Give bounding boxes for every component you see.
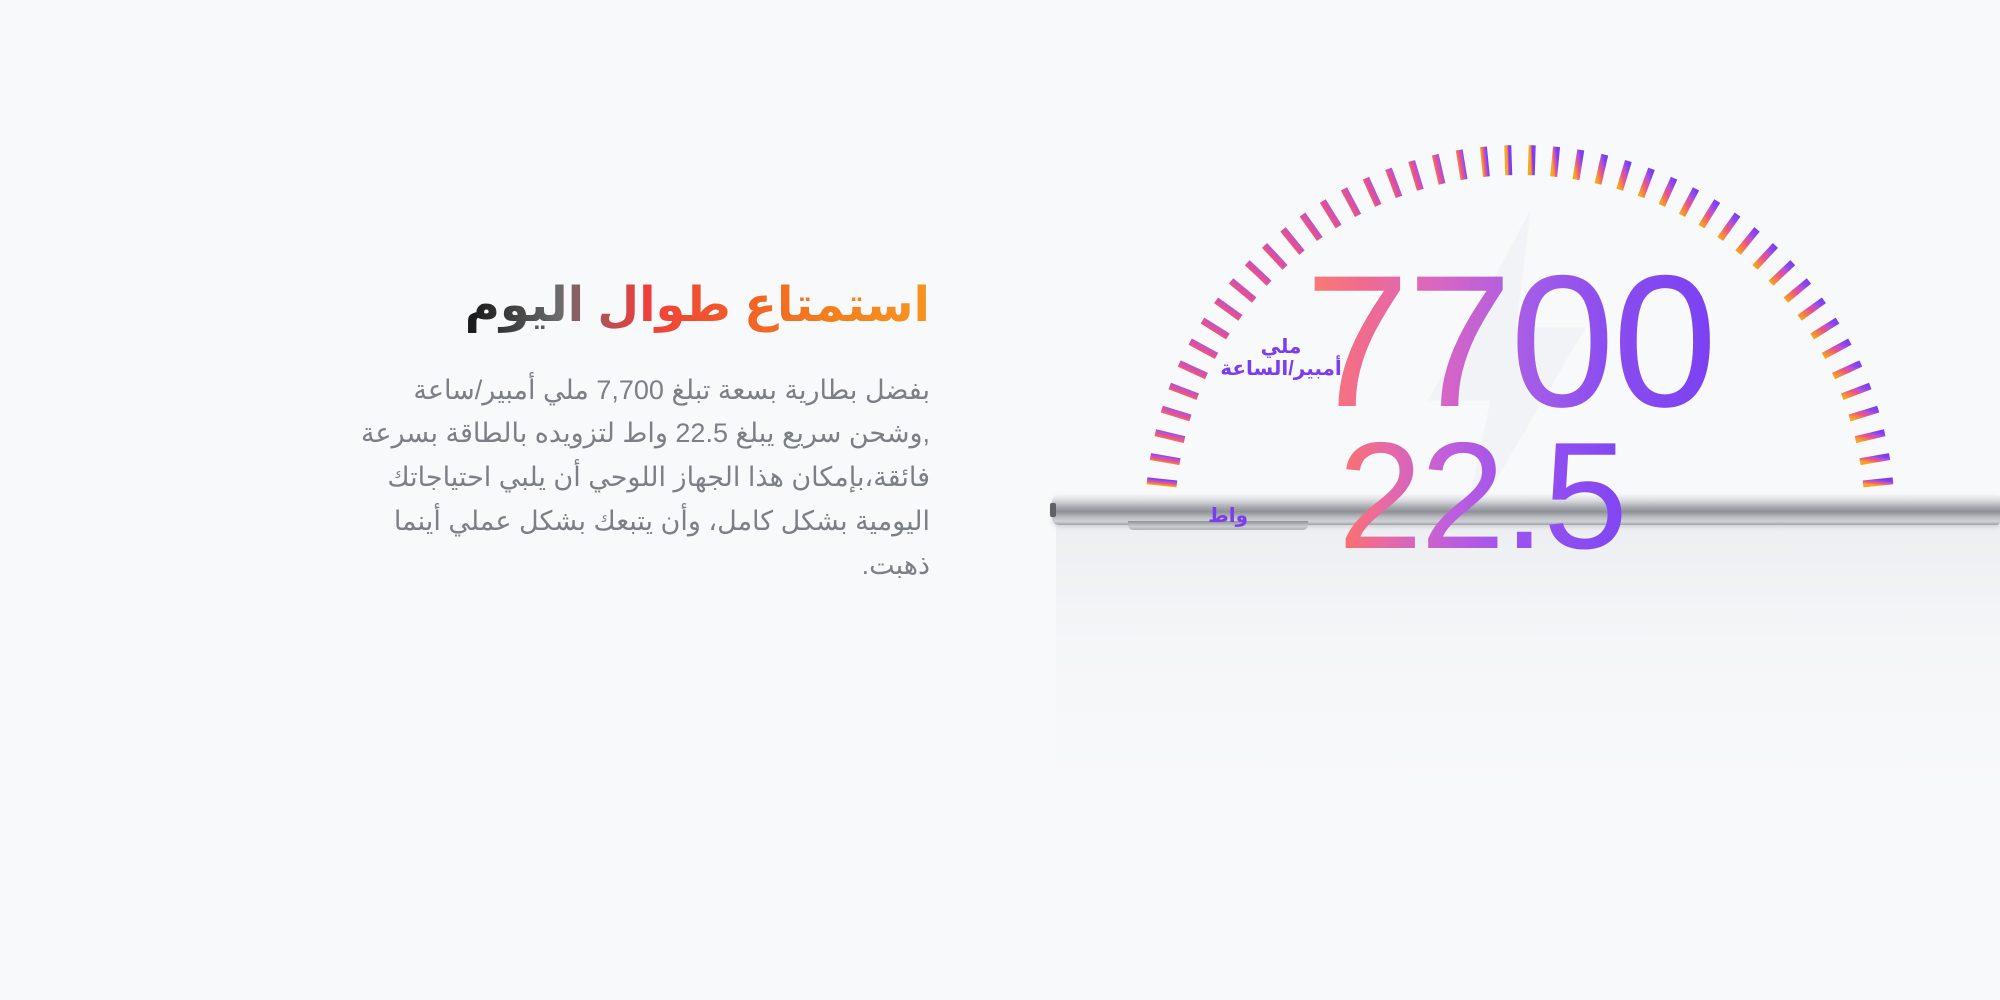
gauge-tick bbox=[1771, 263, 1793, 284]
gauge-tick bbox=[1662, 178, 1674, 205]
gauge-tick bbox=[1738, 229, 1757, 252]
gauge-tick bbox=[1576, 150, 1581, 180]
charging-power-value: 22.5 bbox=[1338, 420, 1626, 572]
gauge-tick bbox=[1435, 155, 1442, 184]
battery-capacity-value: 7700 bbox=[1305, 247, 1715, 435]
gauge-tick bbox=[1508, 145, 1509, 175]
gauge-tick bbox=[1147, 481, 1177, 484]
gauge-tick bbox=[1150, 457, 1180, 462]
gauge-tick bbox=[1531, 145, 1532, 175]
gauge-tick bbox=[1247, 263, 1269, 284]
charging-power-unit: واط bbox=[1208, 505, 1358, 527]
body-paragraph: بفضل بطارية بسعة تبلغ 7,700 ملي أمبير/سا… bbox=[355, 369, 930, 588]
gauge-tick bbox=[1483, 147, 1486, 177]
gauge-tick bbox=[1344, 189, 1358, 215]
gauge-tick bbox=[1755, 245, 1775, 267]
gauge-tick bbox=[1800, 300, 1824, 318]
page-title: استمتاع طوال اليوم bbox=[330, 278, 930, 335]
gauge-tick bbox=[1283, 229, 1302, 252]
gauge-tick bbox=[1388, 169, 1399, 197]
gauge-tick bbox=[1786, 281, 1809, 300]
gauge-tick bbox=[1720, 215, 1737, 239]
gauge-tick bbox=[1231, 281, 1254, 300]
gauge-tick bbox=[1682, 189, 1696, 215]
gauge-tick bbox=[1202, 321, 1227, 337]
gauge-tick bbox=[1459, 150, 1464, 180]
gauge-tick bbox=[1812, 321, 1837, 337]
gauge-tick bbox=[1620, 161, 1629, 190]
feature-panel: استمتاع طوال اليوم بفضل بطارية بسعة تبلغ… bbox=[0, 0, 2000, 1000]
gauge-tick bbox=[1323, 201, 1339, 227]
tablet-port bbox=[1050, 503, 1056, 517]
gauge-tick bbox=[1856, 433, 1885, 440]
gauge-tick bbox=[1554, 147, 1557, 177]
gauge-tick bbox=[1701, 201, 1717, 227]
gauge-tick bbox=[1366, 178, 1378, 205]
battery-visual: 7700 ملي أمبير/الساعة 22.5 واط bbox=[1020, 0, 2000, 1000]
gauge-tick bbox=[1863, 481, 1893, 484]
gauge-tick bbox=[1850, 409, 1879, 418]
gauge-tick bbox=[1170, 386, 1198, 397]
gauge-tick bbox=[1162, 409, 1191, 418]
gauge-tick bbox=[1155, 433, 1184, 440]
gauge-tick bbox=[1598, 155, 1605, 184]
capacity-unit-line-1: ملي bbox=[1206, 336, 1356, 358]
gauge-tick bbox=[1842, 386, 1870, 397]
capacity-unit-line-2: أمبير/الساعة bbox=[1206, 358, 1356, 380]
gauge-tick bbox=[1216, 300, 1240, 318]
gauge-tick bbox=[1834, 364, 1861, 377]
gauge-tick bbox=[1412, 161, 1421, 190]
gauge-tick bbox=[1641, 169, 1652, 197]
gauge-tick bbox=[1265, 245, 1285, 267]
gauge-tick bbox=[1860, 457, 1890, 462]
copy-block: استمتاع طوال اليوم بفضل بطارية بسعة تبلغ… bbox=[330, 278, 930, 587]
battery-capacity-unit: ملي أمبير/الساعة bbox=[1206, 336, 1356, 381]
gauge-tick bbox=[1179, 364, 1206, 377]
gauge-tick bbox=[1823, 342, 1849, 356]
